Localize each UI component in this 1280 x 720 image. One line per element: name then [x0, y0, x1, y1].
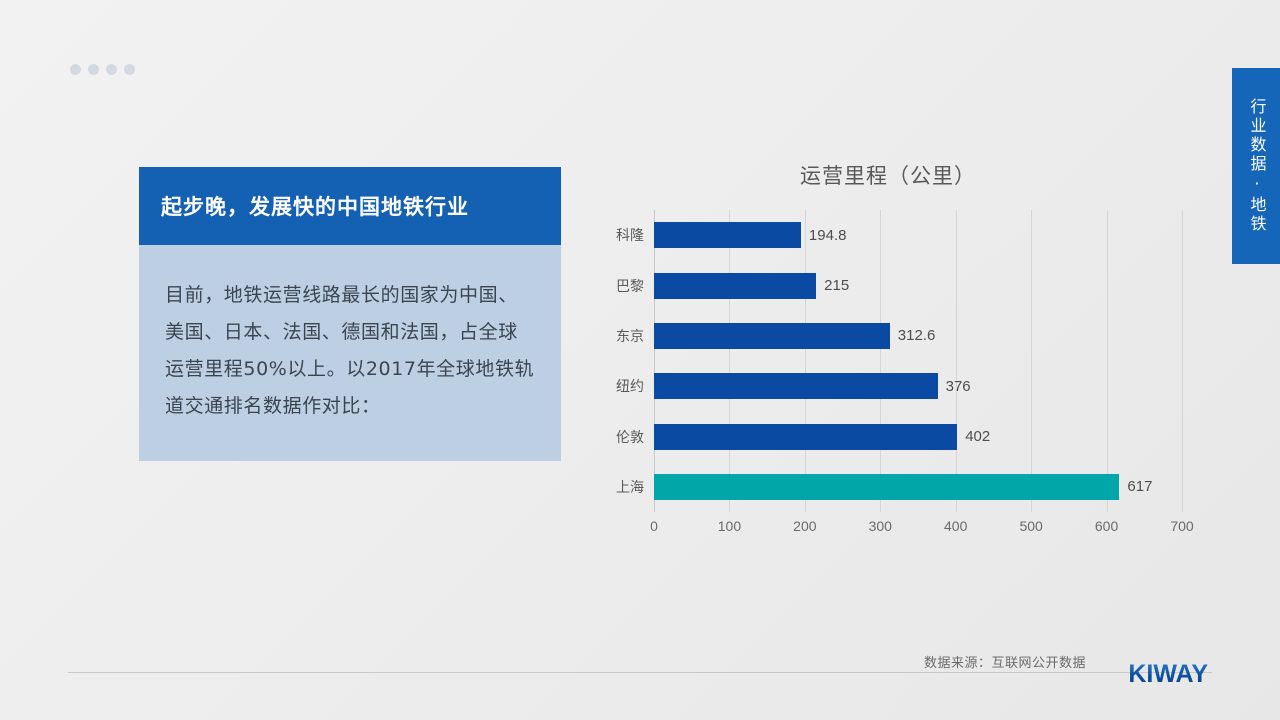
- bar-rect: [654, 323, 890, 349]
- bar-item: 东京312.6: [654, 323, 935, 349]
- brand-logo: KIWAY: [1128, 660, 1208, 689]
- chart-bars: 科隆194.8巴黎215东京312.6纽约376伦敦402上海617: [654, 210, 1182, 512]
- bar-item: 纽约376: [654, 373, 971, 399]
- x-axis-tick-label: 500: [1019, 518, 1042, 534]
- bar-rect: [654, 222, 801, 248]
- decor-dot: [124, 64, 135, 75]
- callout-panel: 起步晚，发展快的中国地铁行业 目前，地铁运营线路最长的国家为中国、美国、日本、法…: [139, 167, 561, 461]
- bar-value-label: 376: [946, 378, 971, 395]
- chart-x-axis: 0100200300400500600700: [654, 512, 1182, 540]
- bar-category-label: 纽约: [616, 376, 644, 396]
- bar-value-label: 215: [824, 277, 849, 294]
- x-axis-tick-label: 700: [1170, 518, 1193, 534]
- x-axis-tick-label: 100: [718, 518, 741, 534]
- bar-item: 伦敦402: [654, 424, 990, 450]
- bar-chart: 运营里程（公里） 科隆194.8巴黎215东京312.6纽约376伦敦402上海…: [598, 160, 1198, 560]
- x-axis-tick-label: 400: [944, 518, 967, 534]
- x-axis-tick-label: 0: [650, 518, 658, 534]
- bar-item: 科隆194.8: [654, 222, 846, 248]
- bar-value-label: 194.8: [809, 227, 847, 244]
- footer-divider: [68, 672, 1212, 673]
- chart-title: 运营里程（公里）: [598, 160, 1198, 190]
- decor-dot: [70, 64, 81, 75]
- gridline: [1182, 210, 1183, 512]
- bar-item: 上海617: [654, 474, 1152, 500]
- bar-category-label: 上海: [616, 477, 644, 497]
- section-tab: 行业数据·地铁: [1232, 68, 1280, 264]
- x-axis-tick-label: 200: [793, 518, 816, 534]
- callout-body: 目前，地铁运营线路最长的国家为中国、美国、日本、法国、德国和法国，占全球运营里程…: [139, 245, 561, 461]
- bar-category-label: 科隆: [616, 225, 644, 245]
- x-axis-tick-label: 300: [869, 518, 892, 534]
- x-axis-tick-label: 600: [1095, 518, 1118, 534]
- decor-dot: [88, 64, 99, 75]
- decor-dot: [106, 64, 117, 75]
- bar-rect: [654, 373, 938, 399]
- bar-category-label: 东京: [616, 326, 644, 346]
- bar-rect: [654, 424, 957, 450]
- section-tab-label: 行业数据·地铁: [1247, 98, 1266, 234]
- bar-item: 巴黎215: [654, 273, 849, 299]
- bar-value-label: 402: [965, 428, 990, 445]
- chart-plot-area: 科隆194.8巴黎215东京312.6纽约376伦敦402上海617: [654, 210, 1182, 512]
- callout-title: 起步晚，发展快的中国地铁行业: [139, 167, 561, 245]
- bar-category-label: 伦敦: [616, 427, 644, 447]
- decorative-dots: [70, 64, 135, 75]
- bar-category-label: 巴黎: [616, 276, 644, 296]
- callout-body-text: 目前，地铁运营线路最长的国家为中国、美国、日本、法国、德国和法国，占全球运营里程…: [165, 277, 535, 425]
- bar-value-label: 312.6: [898, 327, 936, 344]
- bar-rect: [654, 474, 1119, 500]
- bar-value-label: 617: [1127, 478, 1152, 495]
- data-source-note: 数据来源：互联网公开数据: [924, 652, 1086, 671]
- bar-rect: [654, 273, 816, 299]
